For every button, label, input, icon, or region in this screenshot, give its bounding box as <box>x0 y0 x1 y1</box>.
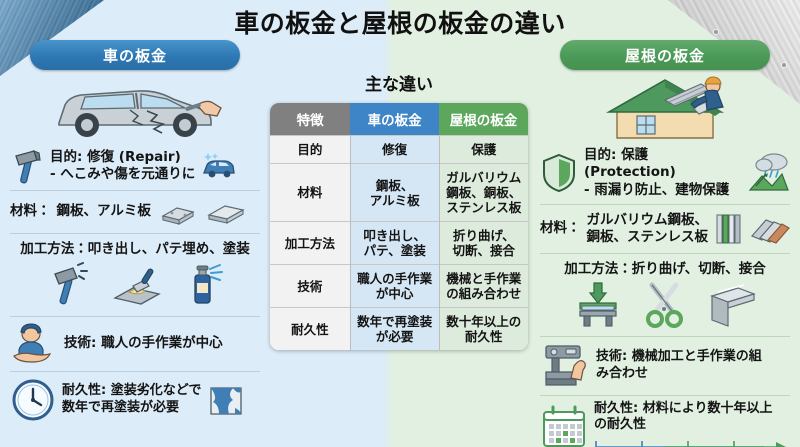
left-method-icons <box>4 257 266 313</box>
table-cell-feature: 技術 <box>270 265 350 308</box>
shiny-car-icon <box>201 151 237 181</box>
table-cell-feature: 材料 <box>270 164 350 222</box>
right-material-line1: ガルバリウム鋼板、 <box>587 212 709 229</box>
right-skill-line2: み合わせ <box>596 366 762 383</box>
table-header-roof: 屋根の板金 <box>439 103 528 136</box>
steel-plate-icon <box>157 196 199 228</box>
left-purpose-row: 目的: 修復 (Repair) - へこみや傷を元通りに <box>4 145 266 187</box>
craftsman-icon <box>10 322 58 366</box>
putty-spatula-icon <box>111 262 163 308</box>
table-cell-car: 叩き出し、パテ、塗装 <box>350 222 439 265</box>
seam-joint-icon <box>708 282 758 328</box>
left-durability-row: 耐久性: 塗装劣化などで 数年で再塗装が必要 <box>4 375 266 425</box>
left-divider <box>10 233 260 234</box>
table-row: 材料鋼板、アルミ板ガルバリウム鋼板、銅板、ステンレス板 <box>270 164 528 222</box>
metal-sheet-stack-icon <box>714 210 744 248</box>
left-purpose-text: 目的: 修復 (Repair) - へこみや傷を元通りに <box>50 149 195 184</box>
left-durability-line1: 耐久性: 塗装劣化などで <box>62 383 201 400</box>
infographic-canvas: 車の板金と屋根の板金の違い 車の板金 <box>0 0 800 447</box>
left-material-value: 鋼板、アルミ板 <box>57 203 151 220</box>
peeling-paint-icon <box>207 380 247 420</box>
left-divider <box>10 371 260 372</box>
table-header-row: 特徴 車の板金 屋根の板金 <box>270 103 528 136</box>
aluminum-plate-icon <box>205 196 247 228</box>
right-method-icons <box>534 277 796 333</box>
left-durability-text: 耐久性: 塗装劣化などで 数年で再塗装が必要 <box>62 383 201 416</box>
page-title: 車の板金と屋根の板金の違い <box>0 4 800 40</box>
left-purpose-line1: 目的: 修復 (Repair) <box>50 149 195 166</box>
table-cell-car: 鋼板、アルミ板 <box>350 164 439 222</box>
left-method-text: 加工方法：叩き出し、パテ埋め、塗装 <box>4 237 266 257</box>
left-divider <box>10 190 260 191</box>
left-skill-row: 技術: 職人の手作業が中心 <box>4 320 266 368</box>
left-purpose-line2: - へこみや傷を元通りに <box>50 166 195 183</box>
right-divider <box>540 336 790 337</box>
left-panel-heading: 車の板金 <box>30 40 240 70</box>
right-skill-text: 技術: 機械加工と手作業の組 み合わせ <box>596 349 762 382</box>
right-durability-row: 耐久性: 材料により数十年以上 の耐久性 <box>534 399 796 447</box>
right-durability-line1: 耐久性: 材料により数十年以上 <box>594 401 790 418</box>
table-cell-roof: 数十年以上の耐久性 <box>439 308 528 351</box>
damaged-car-repair-icon <box>4 73 266 145</box>
left-material-row: 材料： 鋼板、アルミ板 <box>4 194 266 230</box>
right-panel-heading: 屋根の板金 <box>560 40 770 70</box>
table-cell-roof: 折り曲げ、切断、接合 <box>439 222 528 265</box>
calendar-icon <box>540 404 588 447</box>
right-purpose-row: 目的: 保護 (Protection) - 雨漏り防止、建物保護 <box>534 145 796 201</box>
right-material-label: 材料： <box>540 220 581 237</box>
roof-worker-house-icon <box>534 73 796 145</box>
right-material-row: 材料： ガルバリウム鋼板、 銅板、ステンレス板 <box>534 208 796 250</box>
left-material-label: 材料： <box>10 203 51 220</box>
table-cell-roof: ガルバリウム鋼板、銅板、ステンレス板 <box>439 164 528 222</box>
right-skill-row: 技術: 機械加工と手作業の組 み合わせ <box>534 340 796 392</box>
comparison-table: 特徴 車の板金 屋根の板金 目的修復保護材料鋼板、アルミ板ガルバリウム鋼板、銅板… <box>270 103 528 350</box>
table-cell-car: 職人の手作業が中心 <box>350 265 439 308</box>
table-row: 技術職人の手作業が中心機械と手作業の組み合わせ <box>270 265 528 308</box>
roof-panel-icon <box>750 212 790 246</box>
rain-cloud-roof-icon <box>748 152 790 194</box>
shield-icon <box>540 152 578 194</box>
table-cell-feature: 耐久性 <box>270 308 350 351</box>
right-purpose-line1: 目的: 保護 (Protection) <box>584 147 742 182</box>
table-title: 主な違い <box>270 70 528 95</box>
right-divider <box>540 204 790 205</box>
table-header-feature: 特徴 <box>270 103 350 136</box>
right-purpose-text: 目的: 保護 (Protection) - 雨漏り防止、建物保護 <box>584 147 742 199</box>
right-divider <box>540 253 790 254</box>
table-cell-feature: 加工方法 <box>270 222 350 265</box>
spray-can-icon <box>183 261 225 309</box>
scissors-icon <box>642 281 688 329</box>
press-brake-icon <box>572 281 622 329</box>
table-cell-feature: 目的 <box>270 136 350 164</box>
table-row: 加工方法叩き出し、パテ、塗装折り曲げ、切断、接合 <box>270 222 528 265</box>
left-durability-line2: 数年で再塗装が必要 <box>62 400 201 417</box>
table-row: 耐久性数年で再塗装が必要数十年以上の耐久性 <box>270 308 528 351</box>
right-purpose-line2: - 雨漏り防止、建物保護 <box>584 182 742 199</box>
table-header-car: 車の板金 <box>350 103 439 136</box>
left-skill-text: 技術: 職人の手作業が中心 <box>64 335 223 352</box>
table-cell-roof: 機械と手作業の組み合わせ <box>439 265 528 308</box>
right-panel-roof: 屋根の板金 <box>534 40 796 440</box>
timeline-arrow-icon <box>594 437 790 447</box>
right-durability-text: 耐久性: 材料により数十年以上 の耐久性 <box>594 401 790 447</box>
right-skill-line1: 技術: 機械加工と手作業の組 <box>596 349 762 366</box>
right-durability-line2: の耐久性 <box>594 417 790 434</box>
left-panel-car: 車の板金 <box>4 40 266 440</box>
hammer-icon <box>10 147 44 185</box>
right-method-text: 加工方法：折り曲げ、切断、接合 <box>534 257 796 277</box>
right-material-line2: 銅板、ステンレス板 <box>587 229 709 246</box>
clock-icon <box>10 377 56 423</box>
right-divider <box>540 395 790 396</box>
left-divider <box>10 316 260 317</box>
hammer-strike-icon <box>45 262 91 308</box>
table-cell-car: 数年で再塗装が必要 <box>350 308 439 351</box>
table-cell-car: 修復 <box>350 136 439 164</box>
machine-press-icon <box>540 342 590 390</box>
table-cell-roof: 保護 <box>439 136 528 164</box>
right-material-value: ガルバリウム鋼板、 銅板、ステンレス板 <box>587 212 709 247</box>
table-row: 目的修復保護 <box>270 136 528 164</box>
